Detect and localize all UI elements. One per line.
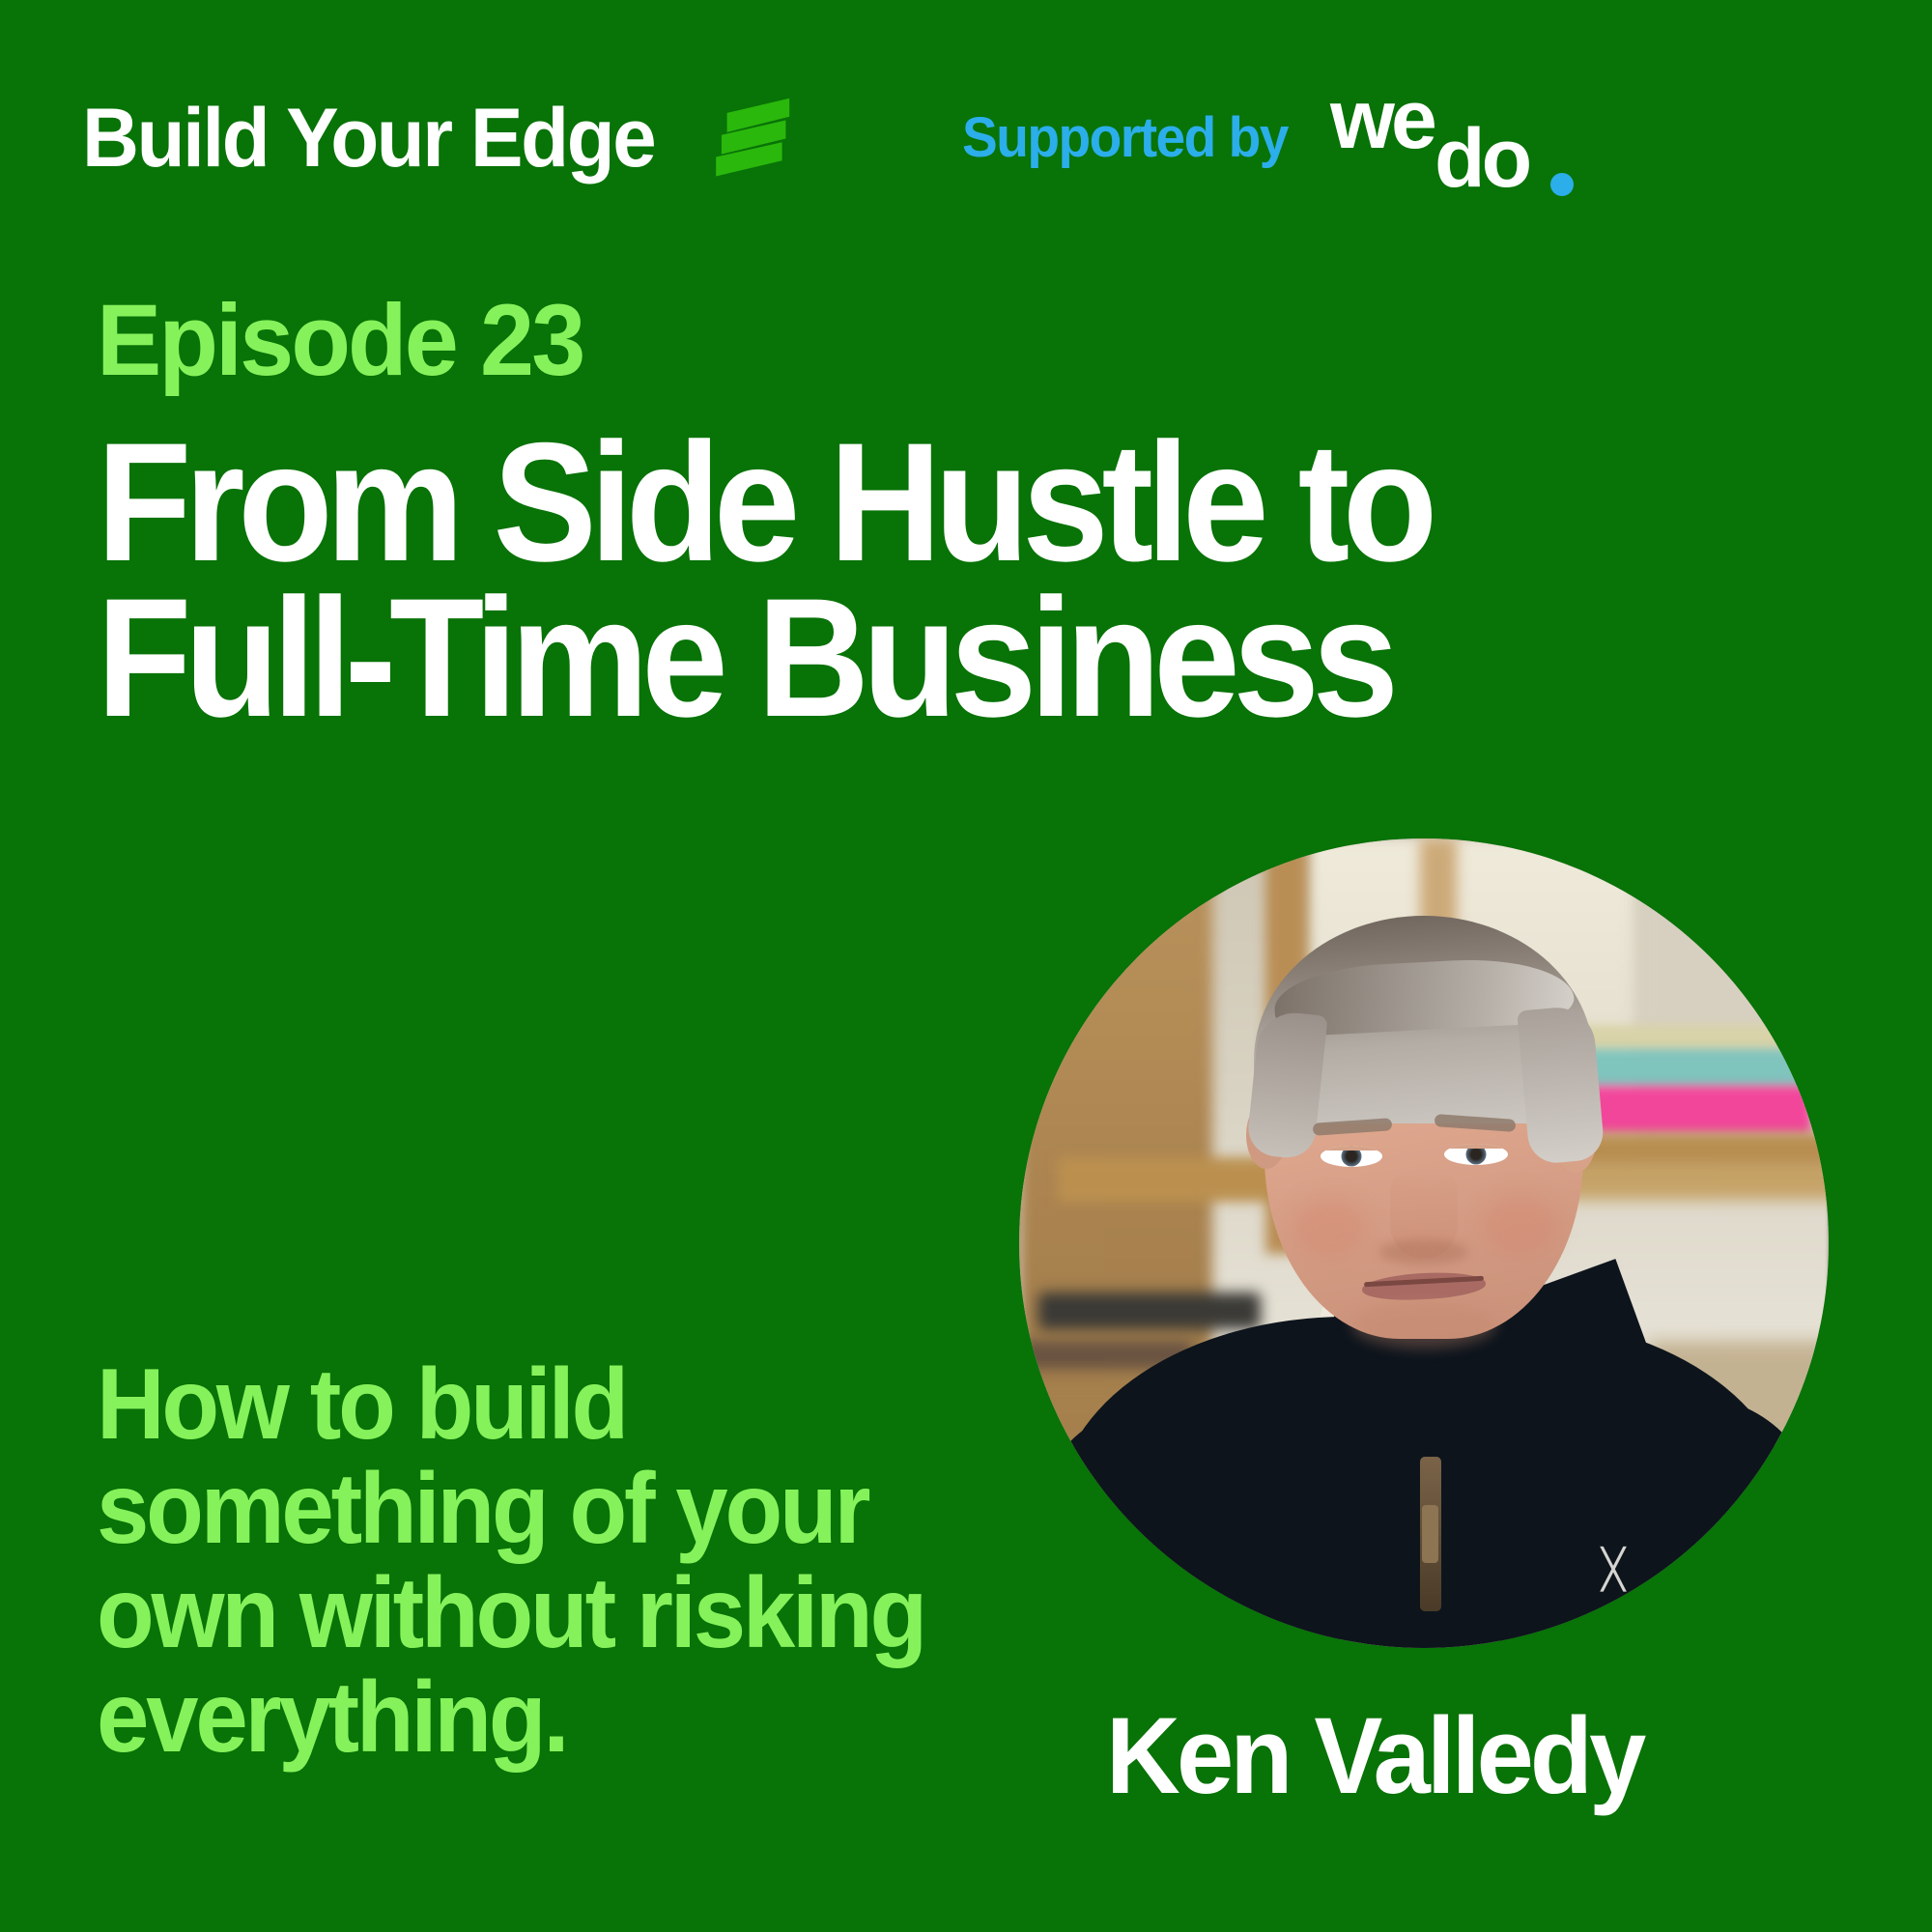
wedo-logo-dot (1550, 173, 1574, 196)
photo-cheek-left (1292, 1198, 1367, 1258)
episode-subtitle: How to build something of your own witho… (97, 1352, 1005, 1771)
episode-title: From Side Hustle to Full-Time Business (97, 425, 1696, 736)
three-slanted-bars-icon (701, 93, 793, 185)
episode-subtitle-line-1: How to build (97, 1352, 1005, 1457)
wedo-logo-we: we (1330, 78, 1434, 161)
photo-eyelid-right (1444, 1144, 1508, 1149)
photo-eye-left (1321, 1146, 1382, 1167)
photo-desk-object-dark (1038, 1293, 1261, 1329)
guest-portrait: ╳ (1019, 838, 1829, 1648)
guest-name: Ken Valledy (1106, 1702, 1643, 1810)
podcast-episode-card: Build Your Edge Supported by we do Episo… (0, 0, 1932, 1932)
brand-name: Build Your Edge (82, 97, 654, 180)
guest-portrait-image: ╳ (1019, 838, 1829, 1648)
wedo-logo-do: do (1435, 117, 1528, 200)
photo-eyelid-left (1321, 1146, 1382, 1151)
photo-sweater-embroidered-logo: ╳ (1584, 1548, 1642, 1591)
episode-subtitle-line-4: everything. (97, 1665, 1005, 1770)
photo-chin (1351, 1300, 1496, 1349)
sponsor-lockup: Supported by we do (962, 80, 1567, 196)
episode-subtitle-line-3: own without risking (97, 1561, 1005, 1665)
brand-lockup: Build Your Edge (82, 93, 793, 185)
wedo-logo: we do (1330, 80, 1567, 196)
photo-sweater-zip-pull (1422, 1505, 1438, 1563)
episode-label: Episode 23 (97, 290, 582, 391)
episode-title-line-1: From Side Hustle to (97, 425, 1696, 581)
photo-eye-right (1444, 1144, 1508, 1165)
episode-title-line-2: Full-Time Business (97, 581, 1696, 736)
photo-book-teal (1579, 1049, 1806, 1088)
photo-book-pink (1570, 1086, 1811, 1134)
supported-by-label: Supported by (962, 110, 1288, 166)
photo-nose-shadow (1379, 1239, 1468, 1264)
photo-cheek-right (1481, 1194, 1558, 1256)
header: Build Your Edge Supported by we do (82, 75, 1860, 201)
episode-subtitle-line-2: something of your (97, 1457, 1005, 1561)
